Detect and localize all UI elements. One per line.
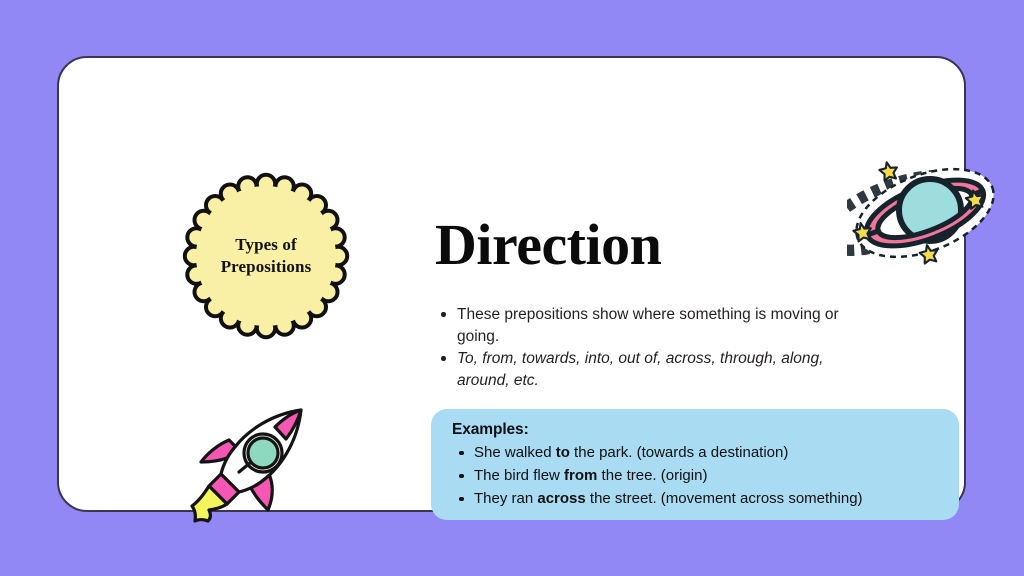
example-suffix: the tree. (origin) xyxy=(597,467,707,484)
list-item: These prepositions show where something … xyxy=(437,304,867,348)
example-suffix: the park. (towards a destination) xyxy=(570,444,788,461)
planet-icon xyxy=(847,150,1003,276)
list-item: They ran across the street. (movement ac… xyxy=(452,488,945,511)
example-preposition: from xyxy=(564,467,597,484)
slide-root: Types of Prepositions Direction These pr… xyxy=(0,0,1024,576)
badge-label: Types of Prepositions xyxy=(180,170,352,342)
badge-line-2: Prepositions xyxy=(221,256,312,278)
list-item: The bird flew from the tree. (origin) xyxy=(452,465,945,488)
definition-list: These prepositions show where something … xyxy=(437,304,867,392)
rocket-icon xyxy=(177,400,327,530)
list-item: She walked to the park. (towards a desti… xyxy=(452,442,945,465)
example-preposition: to xyxy=(556,444,570,461)
types-of-prepositions-badge: Types of Prepositions xyxy=(180,170,352,342)
badge-line-1: Types of xyxy=(235,234,296,256)
examples-heading: Examples: xyxy=(452,420,945,441)
content-card: Types of Prepositions Direction These pr… xyxy=(57,56,966,512)
example-preposition: across xyxy=(537,490,585,507)
list-item: To, from, towards, into, out of, across,… xyxy=(437,348,867,392)
example-prefix: She walked xyxy=(474,444,556,461)
example-prefix: The bird flew xyxy=(474,467,564,484)
page-title: Direction xyxy=(435,216,661,274)
examples-panel: Examples: She walked to the park. (towar… xyxy=(431,409,959,520)
examples-list: She walked to the park. (towards a desti… xyxy=(452,442,945,510)
example-prefix: They ran xyxy=(474,490,537,507)
example-suffix: the street. (movement across something) xyxy=(586,490,863,507)
